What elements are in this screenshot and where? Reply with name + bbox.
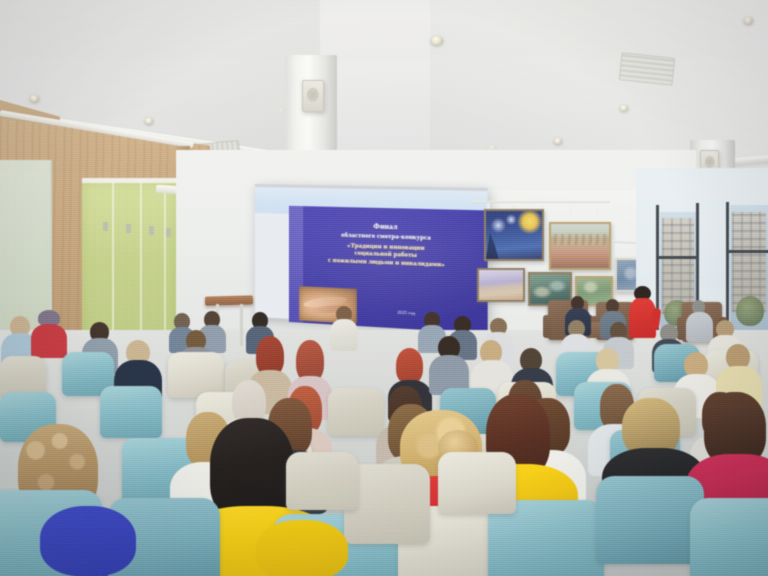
door-handle-icon[interactable]: [126, 224, 131, 233]
ceiling-vent-icon: [619, 52, 676, 85]
partition-mullion: [140, 183, 142, 343]
slide-year: 2025 год: [397, 310, 415, 316]
track-light-icon: [596, 207, 599, 216]
presentation-slide: Финал областного смотра-конкурса «Традиц…: [289, 206, 488, 334]
chair[interactable]: [100, 386, 162, 438]
torso: [330, 319, 358, 351]
torso: [686, 312, 713, 342]
spotlight-icon: [431, 36, 443, 45]
spotlight-icon: [554, 138, 562, 144]
door-handle-icon[interactable]: [149, 226, 154, 235]
track-light-icon: [569, 206, 572, 215]
door-handle-icon[interactable]: [166, 228, 171, 237]
painting-townscape: [549, 222, 611, 270]
hair: [256, 520, 348, 576]
door-handle-icon[interactable]: [103, 222, 108, 231]
spotlight-icon: [30, 95, 39, 102]
spotlight-icon: [278, 108, 285, 113]
painting-starry-night: [484, 209, 544, 261]
chair-front[interactable]: [438, 452, 516, 514]
conference-hall-photo: Финал областного смотра-конкурса «Традиц…: [0, 0, 768, 576]
hair: [396, 348, 423, 384]
partition-mullion: [112, 183, 114, 343]
podium: [205, 295, 253, 305]
spotlight-icon: [145, 118, 153, 124]
ceiling-speaker-icon: [302, 80, 324, 112]
torso: [31, 324, 67, 358]
partition-mullion: [164, 185, 166, 343]
window-transom: [656, 256, 698, 259]
exterior-tree: [736, 296, 764, 326]
projection-screen: Финал областного смотра-конкурса «Традиц…: [255, 184, 488, 330]
track-light-rail: [470, 201, 610, 203]
window-transom: [726, 250, 768, 253]
painting-lavender-field: [477, 268, 525, 302]
spotlight-icon: [620, 105, 628, 111]
chair-front[interactable]: [596, 476, 704, 564]
spotlight-icon: [744, 17, 753, 24]
hair: [40, 506, 136, 576]
chair-front[interactable]: [690, 498, 768, 576]
chair-front[interactable]: [286, 452, 358, 510]
podium-stem: [240, 304, 243, 346]
chair[interactable]: [328, 388, 384, 436]
